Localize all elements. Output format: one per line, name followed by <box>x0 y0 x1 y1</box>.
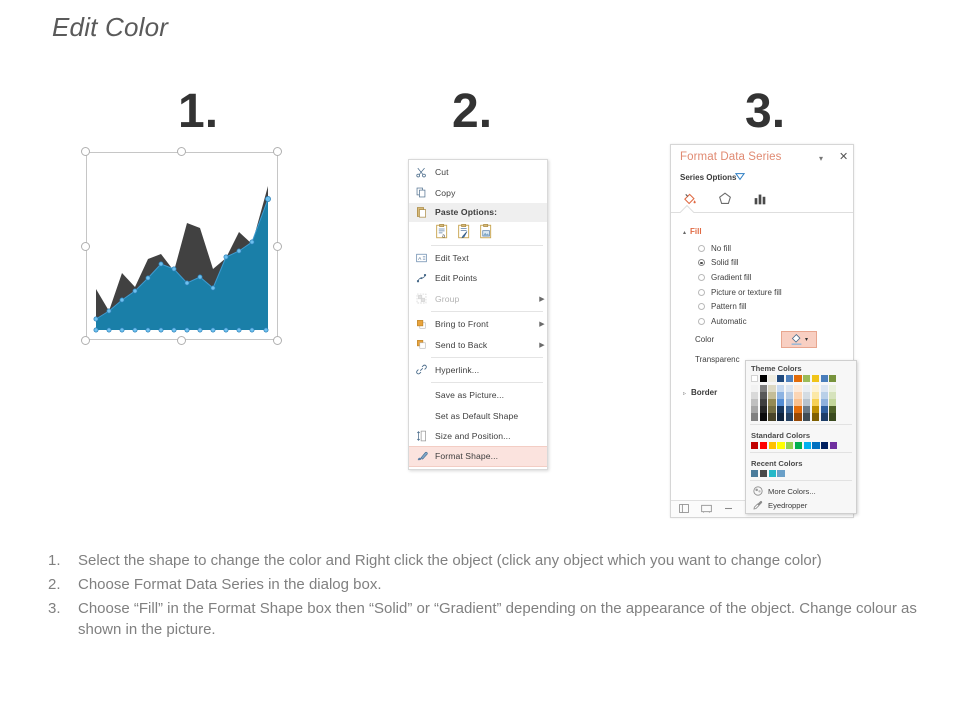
swatch[interactable] <box>803 375 810 382</box>
swatch[interactable] <box>821 375 828 382</box>
menu-item-label: Bring to Front <box>435 319 537 329</box>
fill-color-icon <box>790 332 803 347</box>
menu-item-label: Eyedropper <box>768 501 807 510</box>
swatch[interactable] <box>803 399 810 406</box>
list-item: 3. Choose “Fill” in the Format Shape box… <box>48 598 918 642</box>
border-section-label: Border <box>691 388 717 397</box>
format-shape-icon <box>413 449 430 463</box>
swatch[interactable] <box>751 399 758 406</box>
slide-canvas: Edit Color 1. 2. 3. <box>0 0 960 720</box>
menu-item-label: Size and Position... <box>435 431 547 441</box>
swatch[interactable] <box>760 399 767 406</box>
swatch[interactable] <box>760 406 767 413</box>
menu-separator <box>431 382 543 383</box>
swatch[interactable] <box>760 385 767 392</box>
close-icon[interactable]: ✕ <box>839 150 848 163</box>
radio-automatic[interactable]: Automatic <box>698 314 782 329</box>
swatch[interactable] <box>812 375 819 382</box>
instructions-list: 1. Select the shape to change the color … <box>48 550 918 643</box>
menu-item-label: Edit Points <box>435 273 547 283</box>
menu-separator <box>431 357 543 358</box>
swatch[interactable] <box>821 385 828 392</box>
swatch[interactable] <box>786 392 793 399</box>
swatch[interactable] <box>751 385 758 392</box>
menu-separator <box>750 452 852 453</box>
swatch[interactable] <box>777 375 784 382</box>
resize-handle-middle-left[interactable] <box>81 242 90 251</box>
resize-handle-top-center[interactable] <box>177 147 186 156</box>
size-position-icon <box>413 429 430 443</box>
submenu-arrow-icon: ▶ <box>537 320 547 328</box>
swatch[interactable] <box>812 399 819 406</box>
radio-pattern-fill[interactable]: Pattern fill <box>698 299 782 314</box>
swatch[interactable] <box>777 399 784 406</box>
theme-color-column <box>829 375 836 421</box>
swatch[interactable] <box>804 442 811 449</box>
radio-picture-or-texture-fill[interactable]: Picture or texture fill <box>698 285 782 300</box>
color-row-label: Color <box>695 335 714 344</box>
link-icon <box>413 363 430 377</box>
resize-handle-middle-right[interactable] <box>273 242 282 251</box>
menu-item-cut[interactable]: Cut <box>409 162 547 182</box>
menu-separator <box>750 480 852 481</box>
menu-item-size-and-position[interactable]: Size and Position... <box>409 426 547 446</box>
swatch[interactable] <box>760 392 767 399</box>
clipboard-icon <box>413 205 430 219</box>
menu-item-label: Group <box>435 294 537 304</box>
list-item: 2. Choose Format Data Series in the dial… <box>48 574 918 596</box>
radio-button[interactable] <box>698 274 705 281</box>
fill-section-header[interactable]: ▴Fill <box>683 227 702 236</box>
paint-bucket-icon[interactable] <box>679 189 701 209</box>
chevron-down-icon[interactable]: ▾ <box>805 336 808 343</box>
theme-color-column <box>794 375 801 421</box>
theme-color-column <box>803 375 810 421</box>
step-number-3: 3. <box>745 88 785 136</box>
area-chart-graphic <box>86 152 278 340</box>
radio-button[interactable] <box>698 303 705 310</box>
swatch[interactable] <box>769 470 776 477</box>
pane-header: Format Data Series ▾ ✕ <box>671 145 853 171</box>
menu-item-label: Cut <box>435 167 547 177</box>
transparency-row-label: Transparenc <box>695 355 740 364</box>
selected-shape-container[interactable] <box>86 152 278 340</box>
resize-handle-bottom-left[interactable] <box>81 336 90 345</box>
resize-handle-bottom-right[interactable] <box>273 336 282 345</box>
swatch[interactable] <box>751 413 758 420</box>
swatch[interactable] <box>794 385 801 392</box>
submenu-arrow-icon: ▶ <box>537 341 547 349</box>
menu-separator <box>750 424 852 425</box>
radio-label: Automatic <box>711 317 747 326</box>
paste-options-buttons[interactable]: a <box>409 222 547 243</box>
swatch[interactable] <box>794 392 801 399</box>
theme-colors-grid[interactable] <box>746 375 856 421</box>
swatch[interactable] <box>760 442 767 449</box>
swatch[interactable] <box>751 406 758 413</box>
swatch[interactable] <box>812 385 819 392</box>
menu-item-paste-options: Paste Options: <box>409 203 547 222</box>
list-item-text: Choose “Fill” in the Format Shape box th… <box>78 598 918 642</box>
color-dropdown-menu[interactable]: Theme Colors Standard Colors <box>745 360 857 514</box>
menu-item-label: Set as Default Shape <box>435 411 547 421</box>
swatch[interactable] <box>760 375 767 382</box>
menu-separator <box>431 311 543 312</box>
series-options-label[interactable]: Series Options <box>680 173 736 182</box>
swatch[interactable] <box>821 442 828 449</box>
bring-front-icon <box>413 317 430 331</box>
swatch[interactable] <box>768 375 775 382</box>
eyedropper-icon <box>751 500 764 510</box>
menu-item-label: Paste Options: <box>435 207 547 217</box>
menu-item-save-as-picture[interactable]: Save as Picture... <box>409 385 547 405</box>
radio-gradient-fill[interactable]: Gradient fill <box>698 270 782 285</box>
menu-item-set-default-shape[interactable]: Set as Default Shape <box>409 406 547 426</box>
menu-item-edit-points[interactable]: Edit Points <box>409 268 547 288</box>
menu-item-label: Hyperlink... <box>435 365 547 375</box>
radio-button[interactable] <box>698 259 705 266</box>
swatch[interactable] <box>794 406 801 413</box>
theme-color-column <box>751 375 758 421</box>
menu-item-label: Save as Picture... <box>435 390 547 400</box>
swatch[interactable] <box>803 392 810 399</box>
swatch[interactable] <box>786 442 793 449</box>
page-title: Edit Color <box>52 12 168 43</box>
radio-label: Gradient fill <box>711 273 751 282</box>
radio-label: Pattern fill <box>711 302 747 311</box>
menu-item-hyperlink[interactable]: Hyperlink... <box>409 360 547 380</box>
paste-picture-icon[interactable] <box>479 224 494 239</box>
menu-item-group: Group ▶ <box>409 289 547 309</box>
menu-item-bring-to-front[interactable]: Bring to Front ▶ <box>409 314 547 334</box>
scissors-icon <box>413 165 430 179</box>
swatch[interactable] <box>768 385 775 392</box>
expander-icon: ▴ <box>683 230 686 236</box>
expander-icon: ▹ <box>683 391 686 397</box>
swatch[interactable] <box>777 385 784 392</box>
pane-title: Format Data Series <box>680 151 782 163</box>
list-item-text: Select the shape to change the color and… <box>78 550 918 572</box>
swatch[interactable] <box>786 399 793 406</box>
radio-button[interactable] <box>698 318 705 325</box>
step-number-1: 1. <box>178 88 218 136</box>
color-wheel-icon <box>751 486 764 496</box>
swatch[interactable] <box>769 442 776 449</box>
list-item-number: 2. <box>48 574 78 596</box>
radio-no-fill[interactable]: No fill <box>698 241 782 256</box>
radio-button[interactable] <box>698 289 705 296</box>
list-item-text: Choose Format Data Series in the dialog … <box>78 574 918 596</box>
svg-text:a: a <box>442 233 445 239</box>
radio-solid-fill[interactable]: Solid fill <box>698 256 782 271</box>
group-icon <box>413 292 430 306</box>
swatch[interactable] <box>777 470 784 477</box>
radio-label: Picture or texture fill <box>711 288 782 297</box>
swatch[interactable] <box>786 385 793 392</box>
pentagon-effects-icon[interactable] <box>714 189 736 209</box>
theme-color-column <box>786 375 793 421</box>
swatch[interactable] <box>777 406 784 413</box>
swatch[interactable] <box>829 406 836 413</box>
pane-icon-tabs[interactable] <box>679 189 771 209</box>
copy-icon <box>413 186 430 200</box>
standard-colors-label: Standard Colors <box>746 428 856 442</box>
step-number-2: 2. <box>452 88 492 136</box>
swatch[interactable] <box>768 406 775 413</box>
menu-item-label: Send to Back <box>435 340 537 350</box>
swatch[interactable] <box>751 470 758 477</box>
list-item: 1. Select the shape to change the color … <box>48 550 918 572</box>
menu-item-label: Edit Text <box>435 253 547 263</box>
theme-color-column <box>821 375 828 421</box>
menu-item-label: More Colors... <box>768 487 816 496</box>
swatch[interactable] <box>812 442 819 449</box>
menu-item-copy[interactable]: Copy <box>409 182 547 202</box>
swatch[interactable] <box>777 442 784 449</box>
radio-label: Solid fill <box>711 258 739 267</box>
pane-tab-underline <box>671 212 853 213</box>
swatch[interactable] <box>768 413 775 420</box>
menu-separator <box>431 245 543 246</box>
theme-color-column <box>760 375 767 421</box>
list-item-number: 3. <box>48 598 78 642</box>
swatch[interactable] <box>795 442 802 449</box>
paste-keep-source-icon[interactable]: a <box>435 224 450 239</box>
menu-item-eyedropper[interactable]: Eyedropper <box>746 498 856 512</box>
theme-color-column <box>777 375 784 421</box>
theme-colors-label: Theme Colors <box>746 361 856 375</box>
fill-section-label: Fill <box>690 227 702 236</box>
menu-item-send-to-back[interactable]: Send to Back ▶ <box>409 334 547 354</box>
fill-options-group[interactable]: No fill Solid fill Gradient fill Picture… <box>698 241 782 329</box>
swatch[interactable] <box>803 413 810 420</box>
menu-item-edit-text[interactable]: A Edit Text <box>409 248 547 268</box>
swatch[interactable] <box>821 399 828 406</box>
swatch[interactable] <box>812 413 819 420</box>
swatch[interactable] <box>794 375 801 382</box>
slide-sorter-icon[interactable] <box>701 504 712 515</box>
swatch[interactable] <box>821 392 828 399</box>
swatch[interactable] <box>803 385 810 392</box>
swatch[interactable] <box>777 392 784 399</box>
series-options-dropdown-icon[interactable] <box>735 172 745 183</box>
resize-handle-top-left[interactable] <box>81 147 90 156</box>
submenu-arrow-icon: ▶ <box>537 295 547 303</box>
standard-colors-row[interactable] <box>746 442 856 449</box>
context-menu[interactable]: Cut Copy Paste Options: <box>408 159 548 470</box>
swatch[interactable] <box>794 399 801 406</box>
swatch[interactable] <box>794 413 801 420</box>
swatch[interactable] <box>803 406 810 413</box>
resize-handle-top-right[interactable] <box>273 147 282 156</box>
edit-points-icon <box>413 271 430 285</box>
chevron-down-icon[interactable]: ▾ <box>819 154 823 163</box>
recent-colors-label: Recent Colors <box>746 456 856 470</box>
menu-item-more-colors[interactable]: More Colors... <box>746 484 856 498</box>
swatch[interactable] <box>786 413 793 420</box>
swatch[interactable] <box>829 375 836 382</box>
swatch[interactable] <box>829 385 836 392</box>
fill-color-button[interactable]: ▾ <box>781 331 817 348</box>
swatch[interactable] <box>751 375 758 382</box>
bar-chart-icon[interactable] <box>749 189 771 209</box>
theme-color-column <box>768 375 775 421</box>
recent-colors-row[interactable] <box>746 470 856 477</box>
send-back-icon <box>413 338 430 352</box>
menu-item-format-shape[interactable]: Format Shape... <box>409 446 547 466</box>
swatch[interactable] <box>751 392 758 399</box>
menu-item-label: Copy <box>435 188 547 198</box>
minus-icon[interactable] <box>724 505 733 514</box>
swatch[interactable] <box>751 442 758 449</box>
resize-handle-bottom-center[interactable] <box>177 336 186 345</box>
swatch[interactable] <box>830 442 837 449</box>
swatch[interactable] <box>760 470 767 477</box>
swatch[interactable] <box>768 392 775 399</box>
swatch[interactable] <box>829 413 836 420</box>
swatch[interactable] <box>821 413 828 420</box>
swatch[interactable] <box>786 375 793 382</box>
swatch[interactable] <box>812 406 819 413</box>
swatch[interactable] <box>812 392 819 399</box>
swatch[interactable] <box>829 392 836 399</box>
radio-label: No fill <box>711 244 731 253</box>
swatch[interactable] <box>777 413 784 420</box>
menu-item-label: Format Shape... <box>435 451 547 461</box>
swatch[interactable] <box>821 406 828 413</box>
blank-icon <box>413 388 430 402</box>
theme-color-column <box>812 375 819 421</box>
radio-button[interactable] <box>698 245 705 252</box>
list-item-number: 1. <box>48 550 78 572</box>
swatch[interactable] <box>786 406 793 413</box>
swatch[interactable] <box>768 399 775 406</box>
swatch[interactable] <box>829 399 836 406</box>
blank-icon <box>413 409 430 423</box>
border-section-header[interactable]: ▹Border <box>683 388 717 397</box>
edit-text-icon: A <box>413 251 430 265</box>
swatch[interactable] <box>760 413 767 420</box>
normal-view-icon[interactable] <box>679 504 689 515</box>
paste-destination-theme-icon[interactable] <box>457 224 472 239</box>
